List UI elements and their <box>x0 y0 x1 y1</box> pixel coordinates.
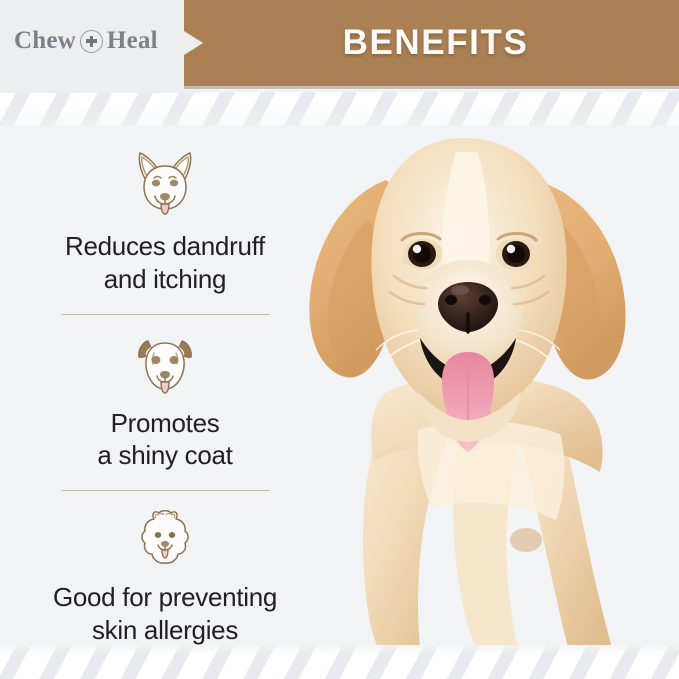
benefit-line-2: skin allergies <box>53 614 277 647</box>
brand-logo[interactable]: Chew Heal <box>14 27 158 55</box>
circled-plus-icon <box>80 30 103 53</box>
divider-1 <box>61 314 270 315</box>
terrier-dog-face-icon <box>126 331 204 401</box>
benefit-line-2: a shiny coat <box>97 439 232 472</box>
stripe-fade-bottom <box>0 645 679 655</box>
product-benefits-infographic: Chew Heal BENEFITS <box>0 0 679 679</box>
brand-name-part1: Chew <box>14 27 76 55</box>
header: Chew Heal BENEFITS <box>0 0 679 93</box>
benefit-line-1: Reduces dandruff <box>65 230 265 263</box>
benefit-text-3: Good for preventing skin allergies <box>53 581 277 647</box>
benefit-text-2: Promotes a shiny coat <box>97 407 232 473</box>
benefit-line-1: Good for preventing <box>53 581 277 614</box>
corgi-dog-face-icon <box>123 146 207 224</box>
brand-name-part2: Heal <box>107 27 158 55</box>
divider-2 <box>61 490 270 491</box>
benefit-text-1: Reduces dandruff and itching <box>65 230 265 296</box>
benefit-line-2: and itching <box>65 263 265 296</box>
header-banner-shadow <box>184 86 679 89</box>
fluffy-dog-face-icon <box>129 507 201 575</box>
page-title: BENEFITS <box>184 0 679 86</box>
puppy-photo <box>268 100 679 651</box>
benefit-line-1: Promotes <box>97 407 232 440</box>
